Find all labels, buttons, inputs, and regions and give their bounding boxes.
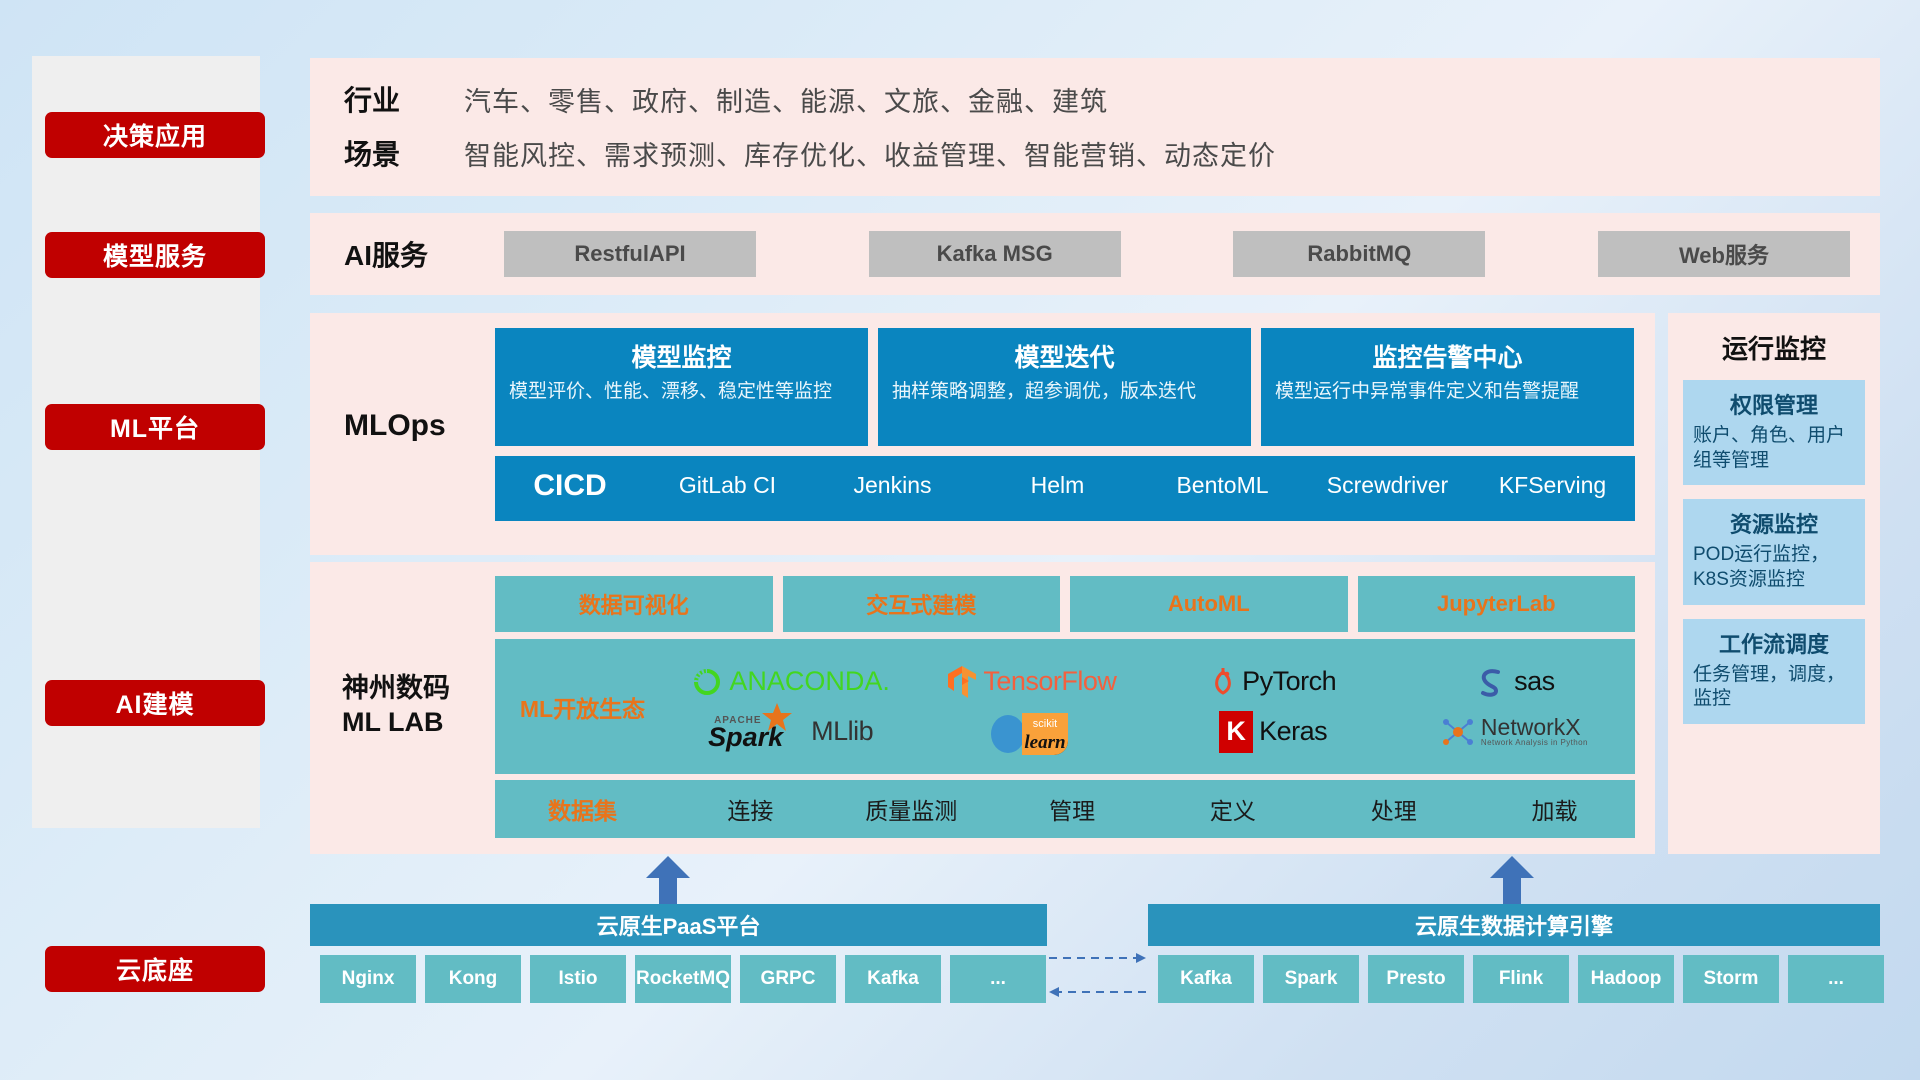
card-title: 模型监控 xyxy=(509,338,854,374)
card-desc: 账户、角色、用户组等管理 xyxy=(1693,424,1855,473)
rail-item-ml-platform[interactable]: ML平台 xyxy=(45,404,265,450)
anaconda-mark-icon xyxy=(691,666,723,698)
dataset-item-quality-monitoring[interactable]: 质量监测 xyxy=(831,792,992,826)
mlops-band: MLOps 模型监控 模型评价、性能、漂移、稳定性等监控 模型迭代 抽样策略调整… xyxy=(310,313,1655,555)
card-desc: 模型运行中异常事件定义和告警提醒 xyxy=(1275,380,1620,404)
chip-more-left[interactable]: ... xyxy=(950,955,1046,1003)
chip-spark[interactable]: Spark xyxy=(1263,955,1359,1003)
anaconda-logo: ANACONDA. xyxy=(691,666,890,698)
chip-grpc[interactable]: GRPC xyxy=(740,955,836,1003)
sas-logo: sas xyxy=(1474,665,1555,699)
dataset-row: 数据集 连接 质量监测 管理 定义 处理 加载 xyxy=(495,780,1635,838)
rail-item-decision-apps[interactable]: 决策应用 xyxy=(45,112,265,158)
chip-presto[interactable]: Presto xyxy=(1368,955,1464,1003)
mllib-wordmark: MLlib xyxy=(811,716,873,747)
monitoring-card-permissions[interactable]: 权限管理 账户、角色、用户组等管理 xyxy=(1683,380,1865,485)
networkx-wordmark: NetworkX xyxy=(1481,716,1588,739)
monitoring-title: 运行监控 xyxy=(1668,313,1880,366)
service-button-restfulapi[interactable]: RestfulAPI xyxy=(504,231,756,277)
scenario-key: 场景 xyxy=(310,133,464,173)
monitoring-card-resources[interactable]: 资源监控 POD运行监控，K8S资源监控 xyxy=(1683,499,1865,604)
cicd-item-screwdriver[interactable]: Screwdriver xyxy=(1305,456,1470,498)
service-button-rabbitmq[interactable]: RabbitMQ xyxy=(1233,231,1485,277)
rail-item-label: 模型服务 xyxy=(103,237,207,273)
dataset-item-connect[interactable]: 连接 xyxy=(670,792,831,826)
chip-hadoop[interactable]: Hadoop xyxy=(1578,955,1674,1003)
chip-nginx[interactable]: Nginx xyxy=(320,955,416,1003)
svg-text:scikit: scikit xyxy=(1033,718,1057,730)
mlops-card-model-monitoring[interactable]: 模型监控 模型评价、性能、漂移、稳定性等监控 xyxy=(495,328,868,446)
pytorch-logo: PyTorch xyxy=(1210,666,1336,698)
card-desc: POD运行监控，K8S资源监控 xyxy=(1693,543,1855,592)
keras-wordmark: Keras xyxy=(1259,716,1327,747)
ml-lab-tools: 数据可视化 交互式建模 AutoML JupyterLab xyxy=(495,576,1635,632)
rail-item-ai-modeling[interactable]: AI建模 xyxy=(45,680,265,726)
sas-wordmark: sas xyxy=(1514,666,1555,697)
cicd-item-kfserving[interactable]: KFServing xyxy=(1470,456,1635,498)
card-title: 监控告警中心 xyxy=(1275,338,1620,374)
tensorflow-mark-icon xyxy=(947,665,977,699)
ml-lab-key-line1: 神州数码 xyxy=(342,672,497,706)
service-button-web[interactable]: Web服务 xyxy=(1598,231,1850,277)
chip-kafka[interactable]: Kafka xyxy=(845,955,941,1003)
upward-arrow-right xyxy=(1484,856,1540,906)
service-button-kafka-msg[interactable]: Kafka MSG xyxy=(869,231,1121,277)
anaconda-wordmark: ANACONDA. xyxy=(729,666,890,697)
networkx-mark-icon xyxy=(1441,715,1475,749)
rail-item-label: AI建模 xyxy=(115,685,194,721)
dataset-item-manage[interactable]: 管理 xyxy=(992,792,1153,826)
dataset-item-define[interactable]: 定义 xyxy=(1152,792,1313,826)
cicd-label: CICD xyxy=(495,456,645,503)
data-compute-engine-bar[interactable]: 云原生数据计算引擎 xyxy=(1148,904,1880,946)
chip-kafka-right[interactable]: Kafka xyxy=(1158,955,1254,1003)
rail-item-label: 决策应用 xyxy=(103,117,207,153)
pytorch-mark-icon xyxy=(1210,666,1236,698)
rail-item-cloud-base[interactable]: 云底座 xyxy=(45,946,265,992)
card-desc: 任务管理，调度，监控 xyxy=(1693,663,1855,712)
dataset-item-process[interactable]: 处理 xyxy=(1313,792,1474,826)
scikit-learn-logo: scikit learn xyxy=(982,707,1082,757)
lab-tool-jupyterlab[interactable]: JupyterLab xyxy=(1358,576,1636,632)
keras-mark-icon: K xyxy=(1219,711,1253,753)
cicd-item-bentoml[interactable]: BentoML xyxy=(1140,456,1305,498)
ml-lab-key: 神州数码 ML LAB xyxy=(342,672,497,740)
tensorflow-wordmark: TensorFlow xyxy=(983,666,1116,697)
ml-lab-band: 神州数码 ML LAB 数据可视化 交互式建模 AutoML JupyterLa… xyxy=(310,562,1655,854)
cicd-item-gitlab-ci[interactable]: GitLab CI xyxy=(645,456,810,498)
ai-service-band: AI服务 RestfulAPI Kafka MSG RabbitMQ Web服务 xyxy=(310,213,1880,295)
spark-star-icon xyxy=(760,701,794,735)
industry-key: 行业 xyxy=(310,79,464,119)
chip-rocketmq[interactable]: RocketMQ xyxy=(635,955,731,1003)
upward-arrow-left xyxy=(640,856,696,906)
compute-component-chips: Kafka Spark Presto Flink Hadoop Storm ..… xyxy=(1158,955,1884,1003)
networkx-tagline: Network Analysis in Python xyxy=(1481,739,1588,747)
dataset-label: 数据集 xyxy=(495,792,670,826)
spark-mllib-logo: APACHE Spark MLlib xyxy=(708,715,873,749)
paas-component-chips: Nginx Kong Istio RocketMQ GRPC Kafka ... xyxy=(320,955,1046,1003)
card-desc: 模型评价、性能、漂移、稳定性等监控 xyxy=(509,380,854,404)
card-title: 模型迭代 xyxy=(892,338,1237,374)
scenario-value: 智能风控、需求预测、库存优化、收益管理、智能营销、动态定价 xyxy=(464,134,1276,173)
svg-text:learn: learn xyxy=(1024,732,1065,753)
cicd-bar: CICD GitLab CI Jenkins Helm BentoML Scre… xyxy=(495,456,1635,521)
sas-mark-icon xyxy=(1474,665,1508,699)
architecture-diagram: 决策应用 模型服务 ML平台 AI建模 云底座 行业 汽车、零售、政府、制造、能… xyxy=(0,0,1920,1080)
chip-kong[interactable]: Kong xyxy=(425,955,521,1003)
mlops-cards: 模型监控 模型评价、性能、漂移、稳定性等监控 模型迭代 抽样策略调整，超参调优，… xyxy=(495,328,1635,446)
bidirectional-dashed-connector xyxy=(1047,940,1148,1010)
rail-item-model-service[interactable]: 模型服务 xyxy=(45,232,265,278)
pytorch-wordmark: PyTorch xyxy=(1242,666,1336,697)
keras-logo: K Keras xyxy=(1219,711,1327,753)
card-desc: 抽样策略调整，超参调优，版本迭代 xyxy=(892,380,1237,404)
runtime-monitoring-band: 运行监控 权限管理 账户、角色、用户组等管理 资源监控 POD运行监控，K8S资… xyxy=(1668,313,1880,854)
mlops-card-model-iteration[interactable]: 模型迭代 抽样策略调整，超参调优，版本迭代 xyxy=(878,328,1251,446)
rail-item-label: 云底座 xyxy=(116,951,194,987)
industry-value: 汽车、零售、政府、制造、能源、文旅、金融、建筑 xyxy=(464,80,1108,119)
chip-storm[interactable]: Storm xyxy=(1683,955,1779,1003)
eco-logo-grid: ANACONDA. TensorFlow xyxy=(670,657,1635,757)
chip-flink[interactable]: Flink xyxy=(1473,955,1569,1003)
mlops-key: MLOps xyxy=(344,409,494,443)
card-title: 工作流调度 xyxy=(1693,627,1855,659)
decision-apps-band: 行业 汽车、零售、政府、制造、能源、文旅、金融、建筑 场景 智能风控、需求预测、… xyxy=(310,58,1880,196)
cicd-item-jenkins[interactable]: Jenkins xyxy=(810,456,975,498)
ml-lab-key-line2: ML LAB xyxy=(342,706,497,740)
cicd-item-helm[interactable]: Helm xyxy=(975,456,1140,498)
mlops-card-alert-center[interactable]: 监控告警中心 模型运行中异常事件定义和告警提醒 xyxy=(1261,328,1634,446)
card-title: 资源监控 xyxy=(1693,507,1855,539)
scikit-learn-mark-icon: scikit learn xyxy=(982,707,1082,757)
tensorflow-logo: TensorFlow xyxy=(947,665,1116,699)
lab-tool-automl[interactable]: AutoML xyxy=(1070,576,1348,632)
ai-service-key: AI服务 xyxy=(310,234,504,274)
eco-label: ML开放生态 xyxy=(495,690,670,724)
networkx-logo: NetworkX Network Analysis in Python xyxy=(1441,715,1588,749)
industry-row: 行业 汽车、零售、政府、制造、能源、文旅、金融、建筑 xyxy=(310,72,1880,126)
chip-more-right[interactable]: ... xyxy=(1788,955,1884,1003)
ml-open-ecosystem: ML开放生态 ANACONDA. xyxy=(495,639,1635,774)
card-title: 权限管理 xyxy=(1693,388,1855,420)
dataset-item-load[interactable]: 加载 xyxy=(1474,792,1635,826)
scenario-row: 场景 智能风控、需求预测、库存优化、收益管理、智能营销、动态定价 xyxy=(310,126,1880,180)
rail-item-label: ML平台 xyxy=(110,409,200,445)
lab-tool-interactive-modeling[interactable]: 交互式建模 xyxy=(783,576,1061,632)
chip-istio[interactable]: Istio xyxy=(530,955,626,1003)
ai-service-buttons: RestfulAPI Kafka MSG RabbitMQ Web服务 xyxy=(504,231,1880,277)
paas-platform-bar[interactable]: 云原生PaaS平台 xyxy=(310,904,1047,946)
lab-tool-data-visualization[interactable]: 数据可视化 xyxy=(495,576,773,632)
monitoring-card-workflow[interactable]: 工作流调度 任务管理，调度，监控 xyxy=(1683,619,1865,724)
